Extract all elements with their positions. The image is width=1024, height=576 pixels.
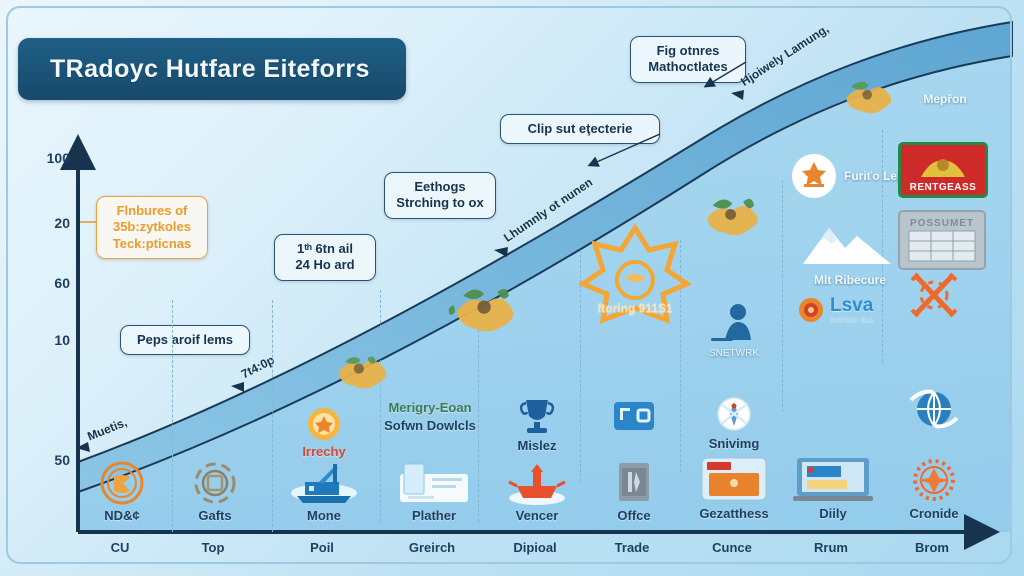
monitor-orange-icon (684, 458, 784, 504)
trophy-cup-icon (487, 390, 587, 436)
callout-peps-line1: Peps aroif lems (131, 332, 239, 348)
plaque-label: POSSUMET (910, 218, 974, 229)
y-tick-2: 60 (36, 275, 70, 291)
cell-rrum-laptop[interactable]: Diily (783, 458, 883, 521)
blob-label: ftoring 911S1 (575, 301, 695, 315)
cell-label: SNETWRK (684, 348, 784, 359)
callout-first-line2: 24 Ho ard (285, 257, 365, 273)
plaque-label: RENTGEASS (910, 182, 977, 193)
cell-poil-badge[interactable]: Irrechy (274, 396, 374, 459)
callout-peps[interactable]: Peps aroif lems (120, 325, 250, 355)
cell-cunce-monitor[interactable]: Gezatthess (684, 458, 784, 521)
callout-features-line3: Teck:pticnas (107, 236, 197, 252)
plaque-possumet: POSSUMET (898, 210, 986, 270)
y-tick-3: 10 (36, 332, 70, 348)
cell-label: Mislez (487, 438, 587, 453)
cell-label: Cronide (884, 506, 984, 521)
film-strip-icon (584, 460, 684, 506)
cell-dipioal-trophy[interactable]: Mislez (487, 390, 587, 453)
cell-dipioal-ship[interactable]: Vencer (487, 460, 587, 523)
cell-trade-window[interactable] (584, 388, 684, 436)
cell-cunce-person[interactable]: SNETWRK (684, 300, 784, 359)
blob-label: Mepřon (890, 92, 1000, 106)
blob-label: Mlt Ribecure (790, 273, 910, 287)
cell-label: Sofwn Dowlcls (380, 417, 480, 435)
cell-label: ND&¢ (72, 508, 172, 523)
ship-crane-icon (274, 460, 374, 506)
callout-features[interactable]: Flnbures of 35b:zytkoles Teck:pticnas (96, 196, 208, 259)
callout-clip[interactable]: Clip sut eţecterie (500, 114, 660, 144)
cell-label: Plather (384, 508, 484, 523)
spreadsheet-icon (907, 229, 977, 263)
callout-fig-line1: Fig otnres (641, 43, 735, 59)
cell-cu-coin[interactable]: ND&¢ (72, 460, 172, 523)
cell-cunce-compass[interactable]: Snivimg (684, 388, 784, 451)
laptop-screen-icon (783, 458, 883, 504)
page-title-text: TRadoyc Hutfare Eiteforrs (18, 55, 370, 84)
callout-first-line1: 1ᵗʰ 6tn ail (285, 241, 365, 257)
callout-eethogs-line2: Strching to ox (395, 195, 485, 211)
cell-label: Snivimg (684, 436, 784, 451)
blob-mountain: Mlt Ribecure (790, 218, 910, 287)
x-tick-7: Rrum (783, 540, 879, 555)
column-divider-7 (782, 180, 783, 412)
cell-label: Diily (783, 506, 883, 521)
callout-features-line2: 35b:zytkoles (107, 219, 197, 235)
callout-first[interactable]: 1ᵗʰ 6tn ail 24 Ho ard (274, 234, 376, 281)
documents-icon (384, 460, 484, 506)
x-tick-2: Poil (274, 540, 370, 555)
compass-wheel-icon (684, 388, 784, 434)
x-tick-1: Top (165, 540, 261, 555)
lava-wordmark: Lsva (830, 296, 873, 315)
callout-clip-line1: Clip sut eţecterie (511, 121, 649, 137)
x-tick-6: Cunce (684, 540, 780, 555)
x-tick-4: Dipioal (487, 540, 583, 555)
blob-burning: ftoring 911S1 (575, 222, 695, 349)
window-card-icon (584, 388, 684, 434)
circular-emblem-icon (790, 152, 838, 200)
cell-label: Gafts (165, 508, 265, 523)
page-title: TRadoyc Hutfare Eiteforrs (18, 38, 406, 100)
x-tick-3: Greirch (384, 540, 480, 555)
y-tick-1: 20 (36, 215, 70, 231)
plaque-rentgeass: RENTGEASS (898, 142, 988, 198)
cell-label: Offce (584, 508, 684, 523)
cell-label: Gezatthess (684, 506, 784, 521)
cell-label: Mone (274, 508, 374, 523)
column-divider-2 (272, 300, 273, 532)
cell-label-green: Merigry-Eoan (380, 400, 480, 415)
cell-trade-film[interactable]: Offce (584, 460, 684, 523)
blob-lava: ftoring 911S1 Lsva nutrison tlus (798, 296, 948, 324)
callout-eethogs-line1: Eethogs (395, 179, 485, 195)
mountain-icon (795, 218, 905, 268)
cell-poil-ship[interactable]: Mone (274, 460, 374, 523)
ornament-icon (915, 149, 971, 183)
seal-icon (798, 297, 824, 323)
cell-label: Vencer (487, 508, 587, 523)
cell-brom-globe[interactable] (884, 386, 984, 434)
sunburst-badge-icon (274, 396, 374, 442)
red-ship-icon (487, 460, 587, 506)
coin-emblem-icon (72, 460, 172, 506)
callout-fig[interactable]: Fig otnres Mathoctlates (630, 36, 746, 83)
x-tick-8: Brom (884, 540, 980, 555)
sun-burst-icon (884, 458, 984, 504)
callout-features-line1: Flnbures of (107, 203, 197, 219)
infographic-canvas: 100 20 60 10 50 CU Top Poil Greirch Dipi… (0, 0, 1024, 576)
callout-fig-line2: Mathoctlates (641, 59, 735, 75)
lava-sub: nutrison tlus (830, 315, 873, 324)
x-tick-5: Trade (584, 540, 680, 555)
cell-brom-sun[interactable]: Cronide (884, 458, 984, 521)
gear-ring-icon (165, 460, 265, 506)
x-tick-0: CU (72, 540, 168, 555)
cell-greirch-docs[interactable]: Plather (384, 460, 484, 523)
cell-top-gear[interactable]: Gafts (165, 460, 265, 523)
blob-megrion: Mepřon (890, 92, 1000, 106)
cell-label: Irrechy (274, 444, 374, 459)
callout-eethogs[interactable]: Eethogs Strching to ox (384, 172, 496, 219)
cell-greirch-text: Merigry-Eoan Sofwn Dowlcls (380, 398, 480, 435)
y-tick-0: 100 (36, 150, 70, 166)
y-tick-4: 50 (36, 452, 70, 468)
globe-arrows-icon (884, 386, 984, 432)
person-desk-icon (684, 300, 784, 346)
